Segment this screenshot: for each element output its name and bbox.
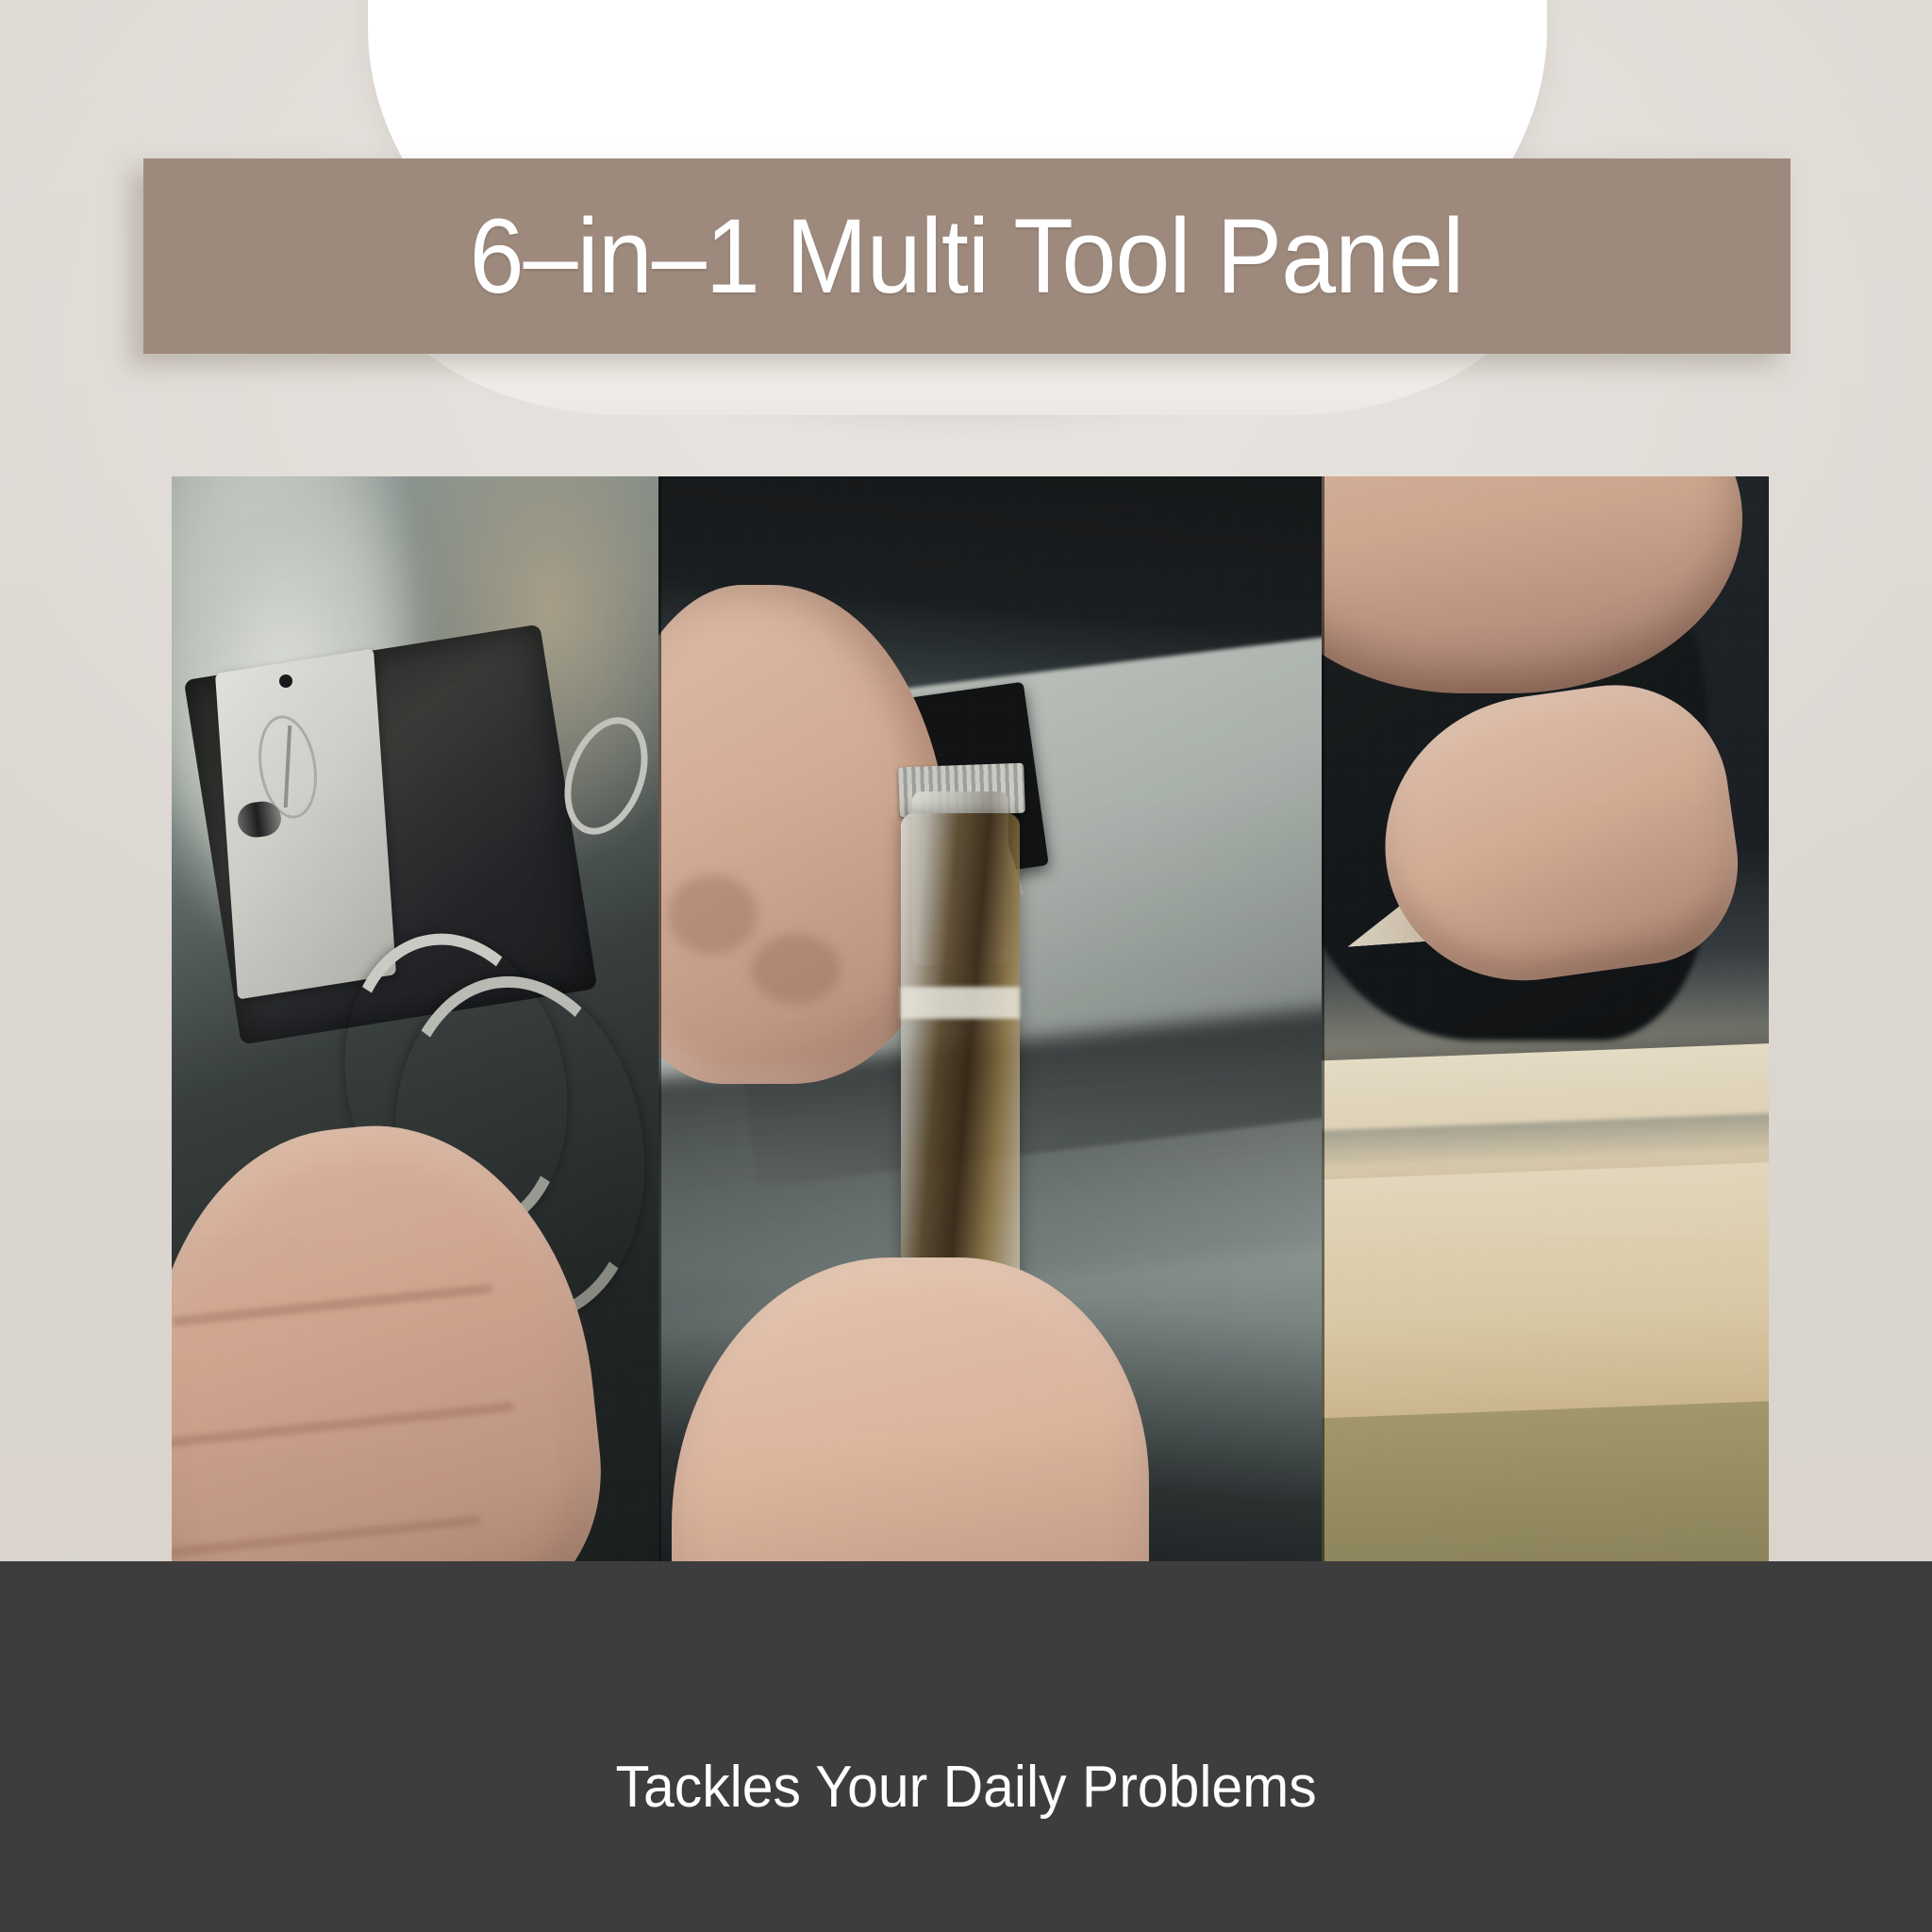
floor-surface	[1322, 1400, 1769, 1561]
footer-tagline: Tackles Your Daily Problems	[615, 1754, 1316, 1821]
gallery-panel-bottle-opener[interactable]	[658, 476, 1322, 1561]
multitool-rivet	[279, 675, 292, 688]
panel-divider	[1322, 476, 1324, 1561]
product-poster: 6–in–1 Multi Tool Panel	[0, 0, 1932, 1932]
finger-crease	[172, 1515, 481, 1557]
panel-divider	[658, 476, 661, 1561]
footer-bar: Tackles Your Daily Problems	[0, 1561, 1932, 1932]
page-title: 6–in–1 Multi Tool Panel	[470, 204, 1464, 309]
wood-board-face	[1322, 1161, 1769, 1441]
gallery-panel-blade[interactable]	[1322, 476, 1769, 1561]
finger-crease	[172, 1283, 492, 1326]
bottle-foam-line	[901, 987, 1020, 1020]
title-banner: 6–in–1 Multi Tool Panel	[143, 158, 1790, 354]
gallery-panel-screwdriver[interactable]	[172, 476, 658, 1561]
knuckle	[668, 874, 758, 955]
knuckle	[751, 934, 841, 1004]
product-gallery	[172, 476, 1769, 1561]
finger-crease	[172, 1402, 514, 1448]
